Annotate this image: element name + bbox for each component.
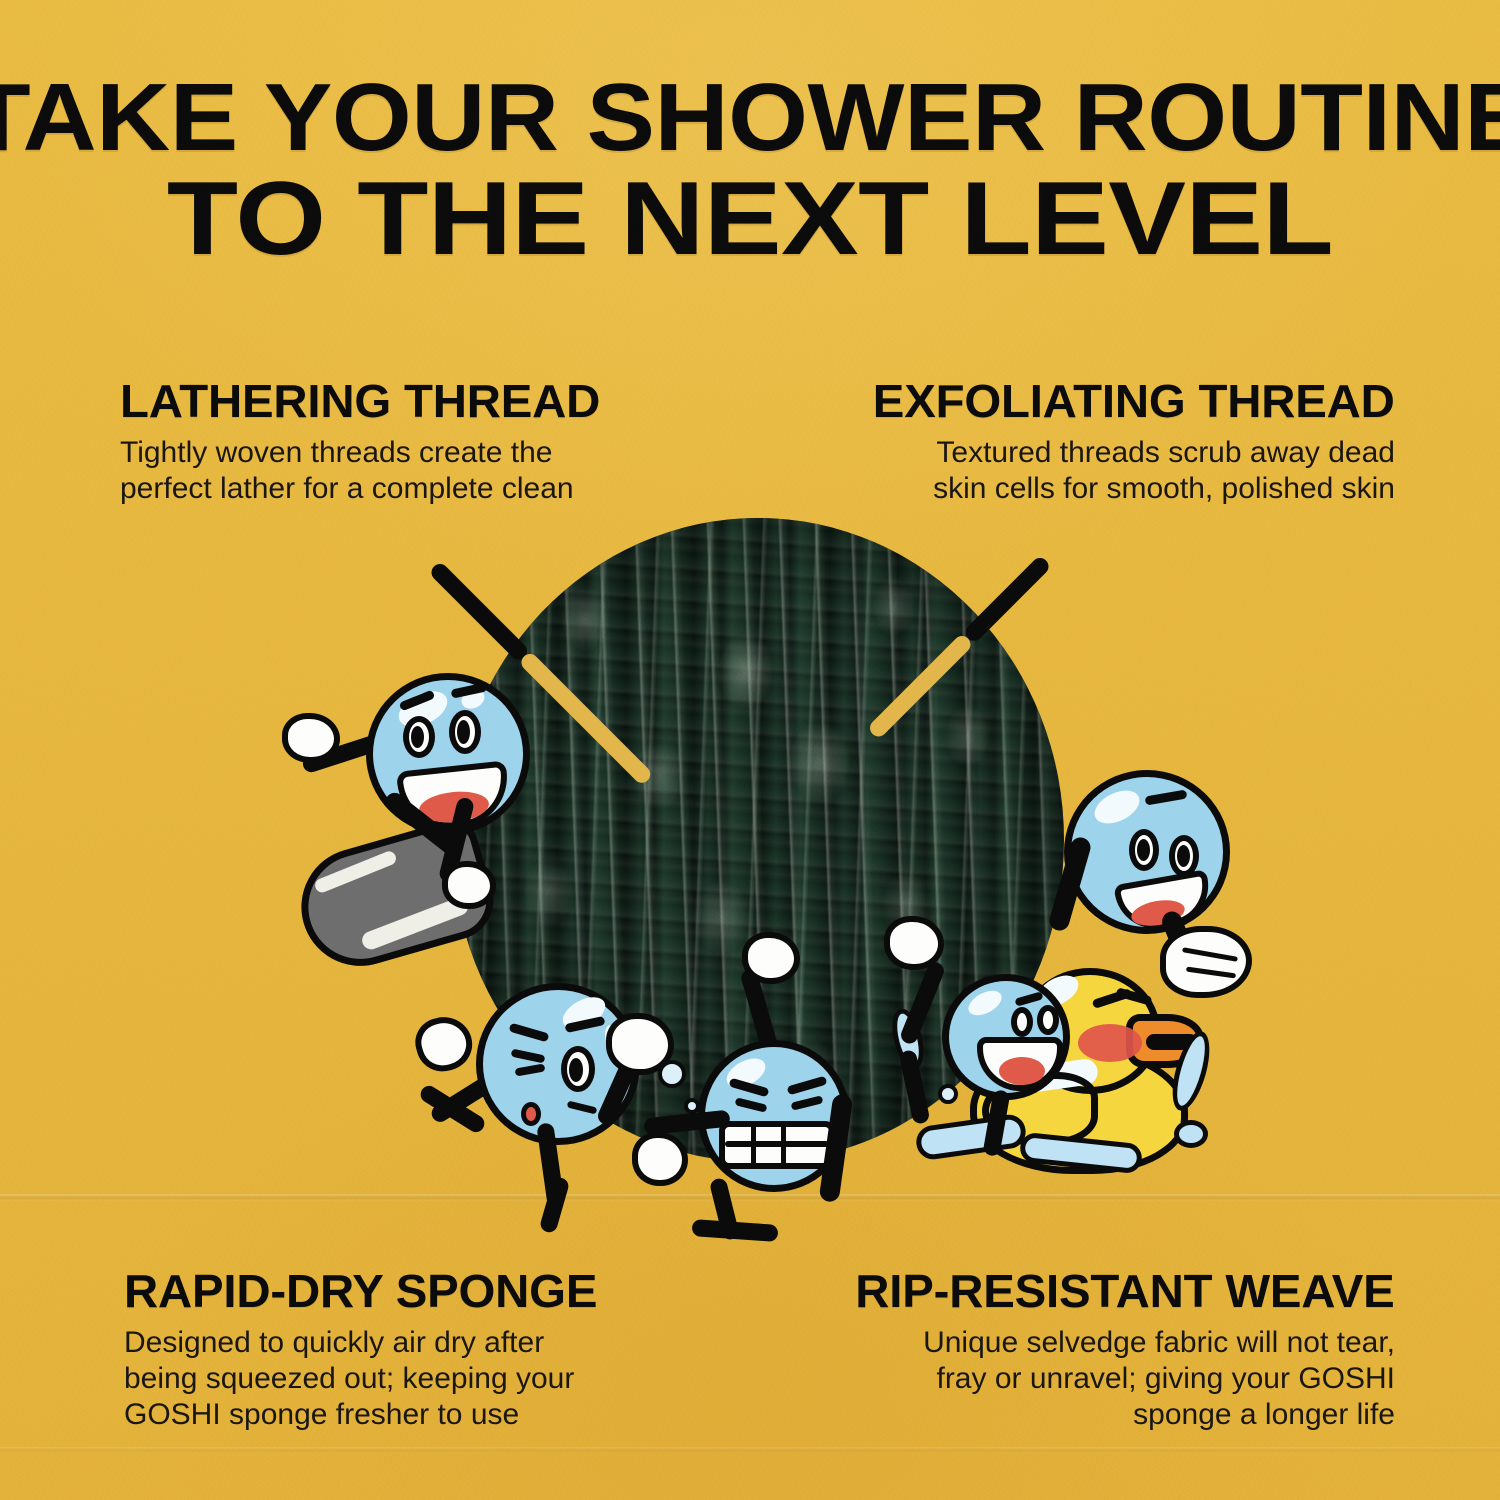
glove-icon — [442, 861, 496, 909]
headline-line-1: TAKE YOUR SHOWER ROUTINE — [0, 72, 1500, 164]
feature-lathering-thread: LATHERING THREAD Tightly woven threads c… — [120, 378, 586, 507]
feature-title: EXFOLIATING THREAD — [873, 378, 1395, 425]
mascot-bubble-waving — [300, 655, 560, 925]
glove-icon — [632, 1132, 688, 1186]
soap-bubble-icon — [658, 1060, 686, 1088]
feature-title: RIP-RESISTANT WEAVE — [856, 1268, 1395, 1315]
glove-icon — [884, 916, 944, 970]
feature-title: RAPID-DRY SPONGE — [124, 1268, 597, 1315]
feature-body: Designed to quickly air dry after being … — [124, 1325, 583, 1433]
feature-body: Tightly woven threads create the perfect… — [120, 435, 586, 507]
feature-rapid-dry-sponge: RAPID-DRY SPONGE Designed to quickly air… — [124, 1268, 583, 1433]
headline-line-2: TO THE NEXT LEVEL — [0, 170, 1500, 270]
feature-rip-resistant-weave: RIP-RESISTANT WEAVE Unique selvedge fabr… — [871, 1268, 1395, 1433]
glove-icon — [282, 713, 340, 763]
feature-body: Textured threads scrub away dead skin ce… — [888, 435, 1395, 507]
page-title: TAKE YOUR SHOWER ROUTINE TO THE NEXT LEV… — [0, 72, 1500, 270]
glove-icon — [742, 932, 800, 984]
mascot-bubble-grimacing — [650, 1010, 910, 1240]
feature-body: Unique selvedge fabric will not tear, fr… — [871, 1325, 1395, 1433]
infographic-page: TAKE YOUR SHOWER ROUTINE TO THE NEXT LEV… — [0, 0, 1500, 1500]
paper-fold-seam-lower — [0, 1447, 1500, 1453]
feature-title: LATHERING THREAD — [120, 378, 600, 425]
feature-exfoliating-thread: EXFOLIATING THREAD Textured threads scru… — [888, 378, 1395, 507]
glove-icon — [410, 1010, 479, 1077]
soap-bubble-icon — [684, 1098, 700, 1114]
water-splash-icon — [1174, 1120, 1208, 1148]
mascot-bubble-cheering — [880, 930, 1100, 1160]
